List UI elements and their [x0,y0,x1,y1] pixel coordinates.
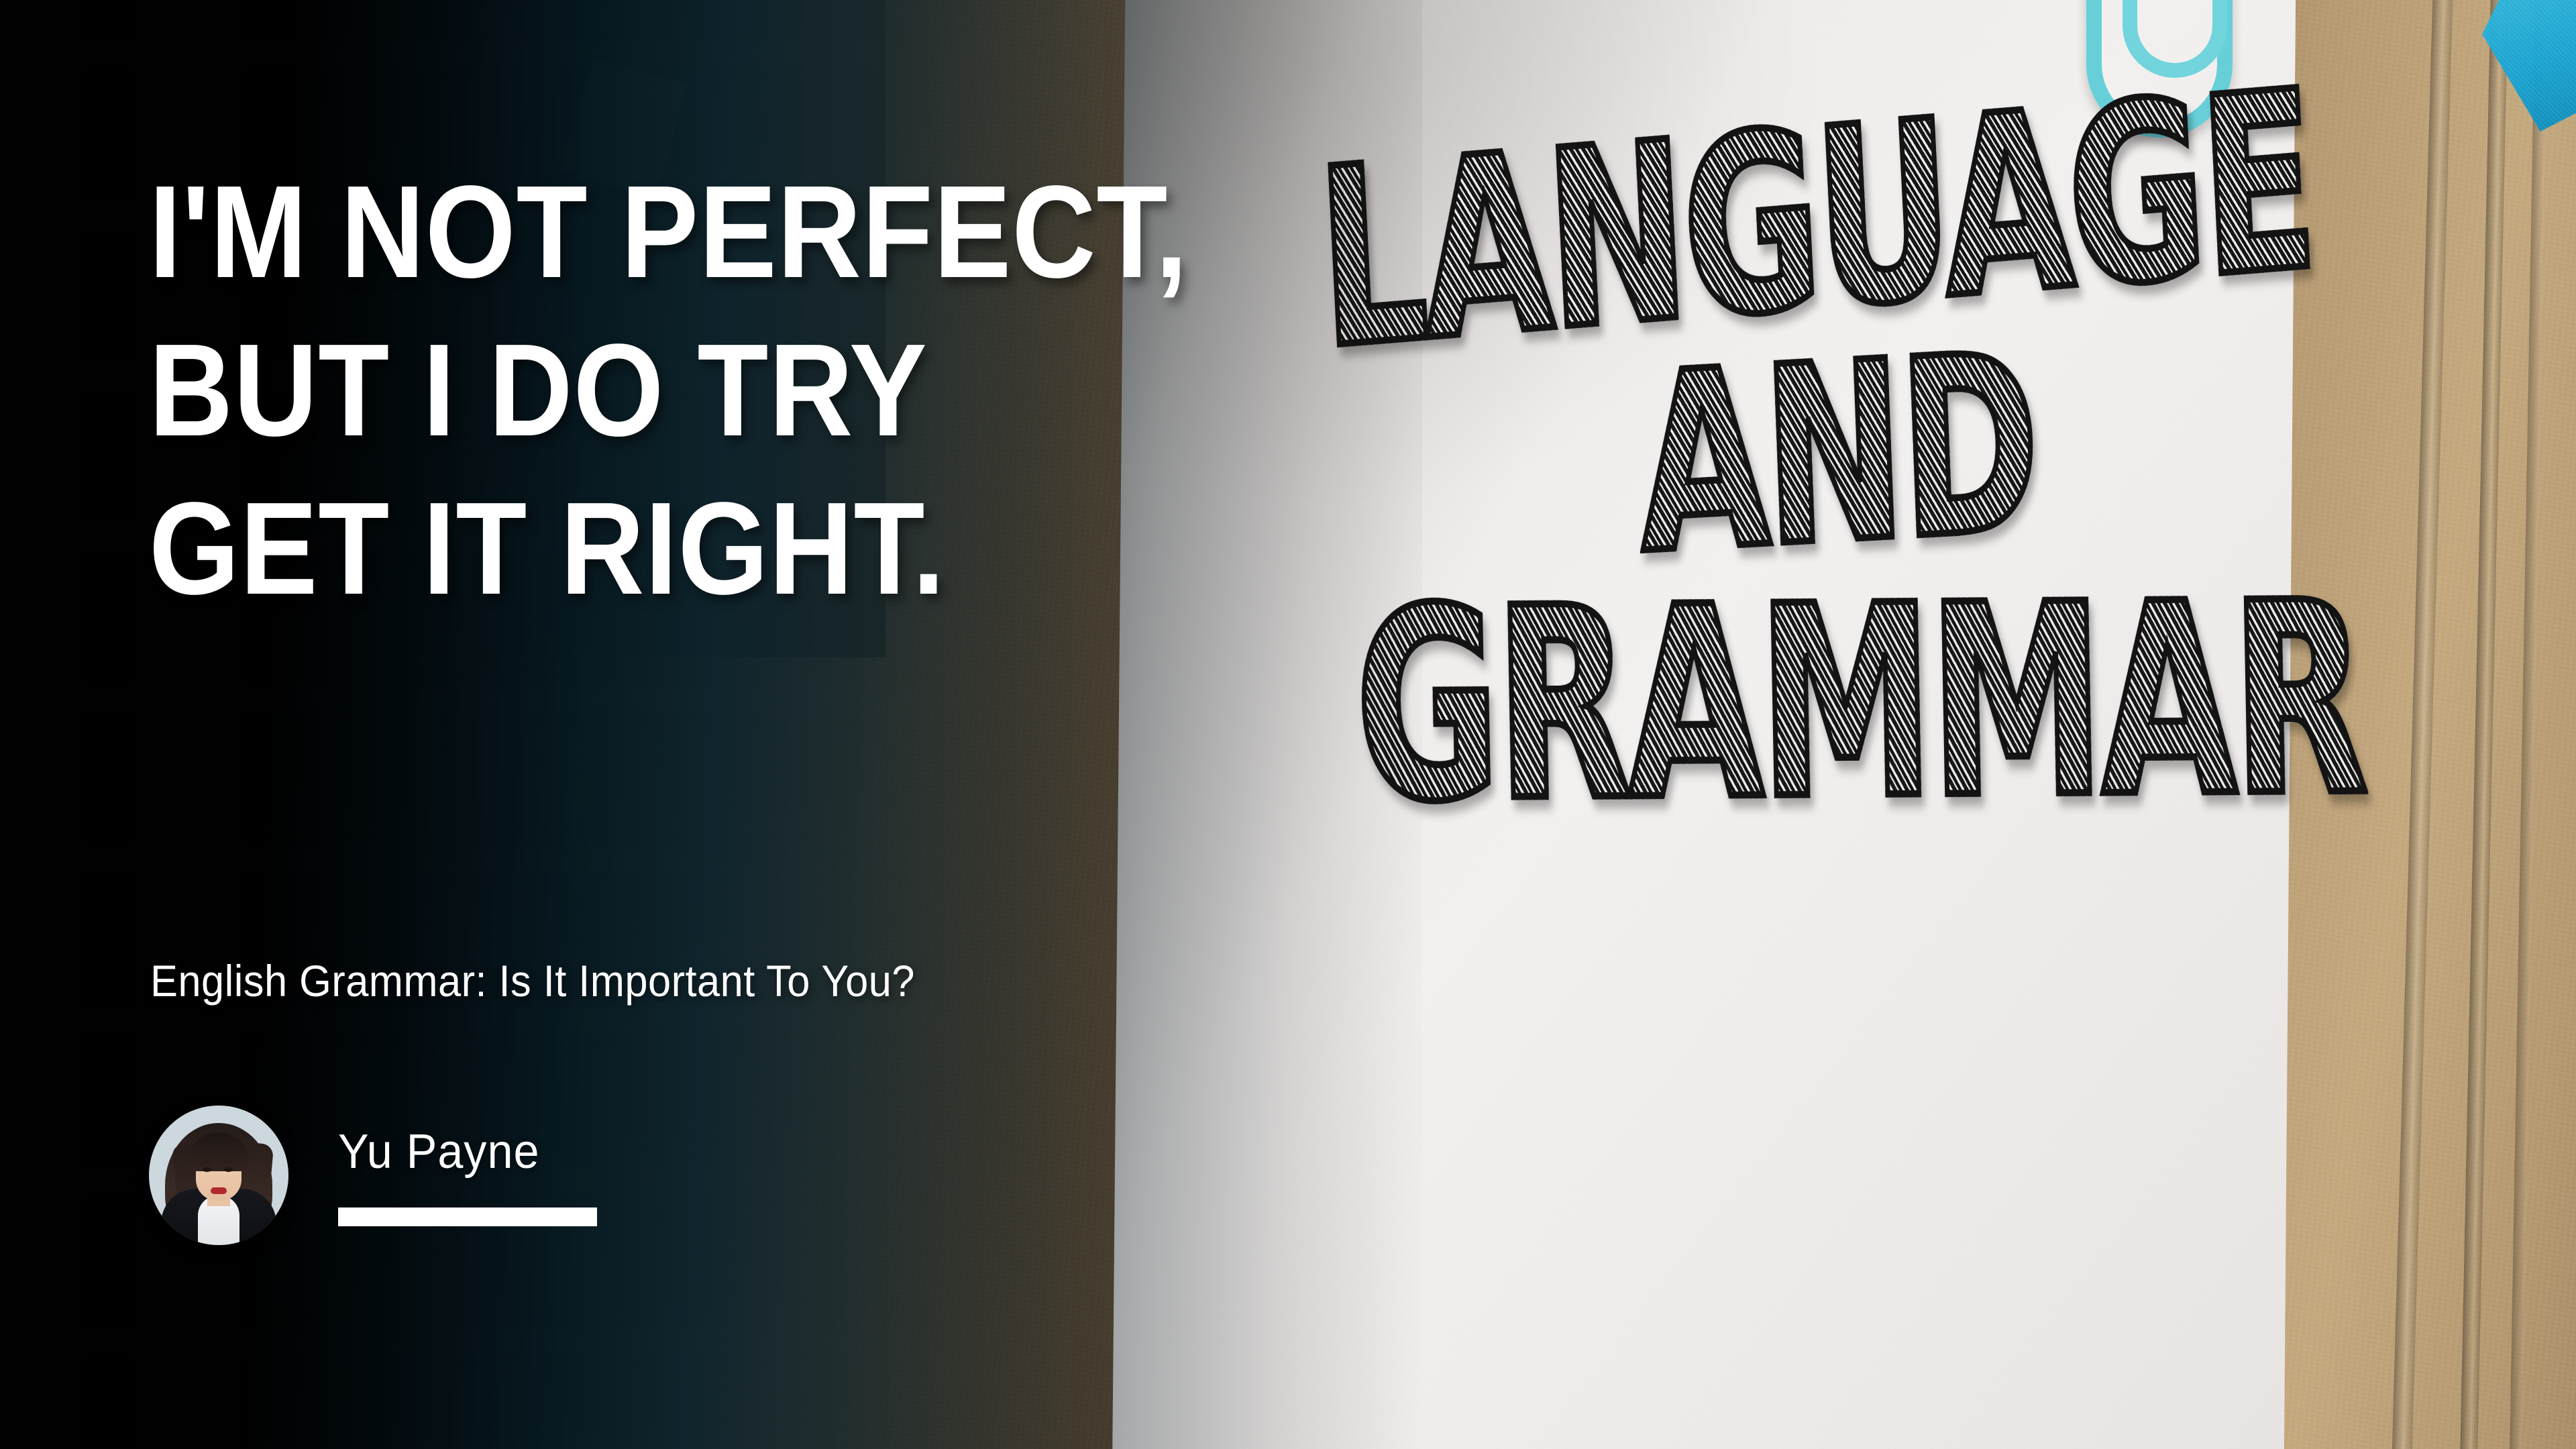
social-card: LANGUAGE AND GRAMMAR I'M NOT PERFECT, BU… [0,0,2576,1449]
author-name: Yu Payne [338,1124,584,1179]
page-title: I'M NOT PERFECT, BUT I DO TRY GET IT RIG… [149,153,1990,629]
headline-line-2: BUT I DO TRY [149,311,1990,470]
content-layer: I'M NOT PERFECT, BUT I DO TRY GET IT RIG… [0,0,2576,1449]
headline-line-3: GET IT RIGHT. [149,470,1990,628]
avatar [149,1106,288,1245]
author-text-group: Yu Payne [338,1124,597,1226]
author-block: Yu Payne [149,1106,597,1245]
headline-line-1: I'M NOT PERFECT, [149,153,1990,311]
author-underline-rule [338,1207,597,1226]
article-subtitle: English Grammar: Is It Important To You? [150,955,915,1006]
